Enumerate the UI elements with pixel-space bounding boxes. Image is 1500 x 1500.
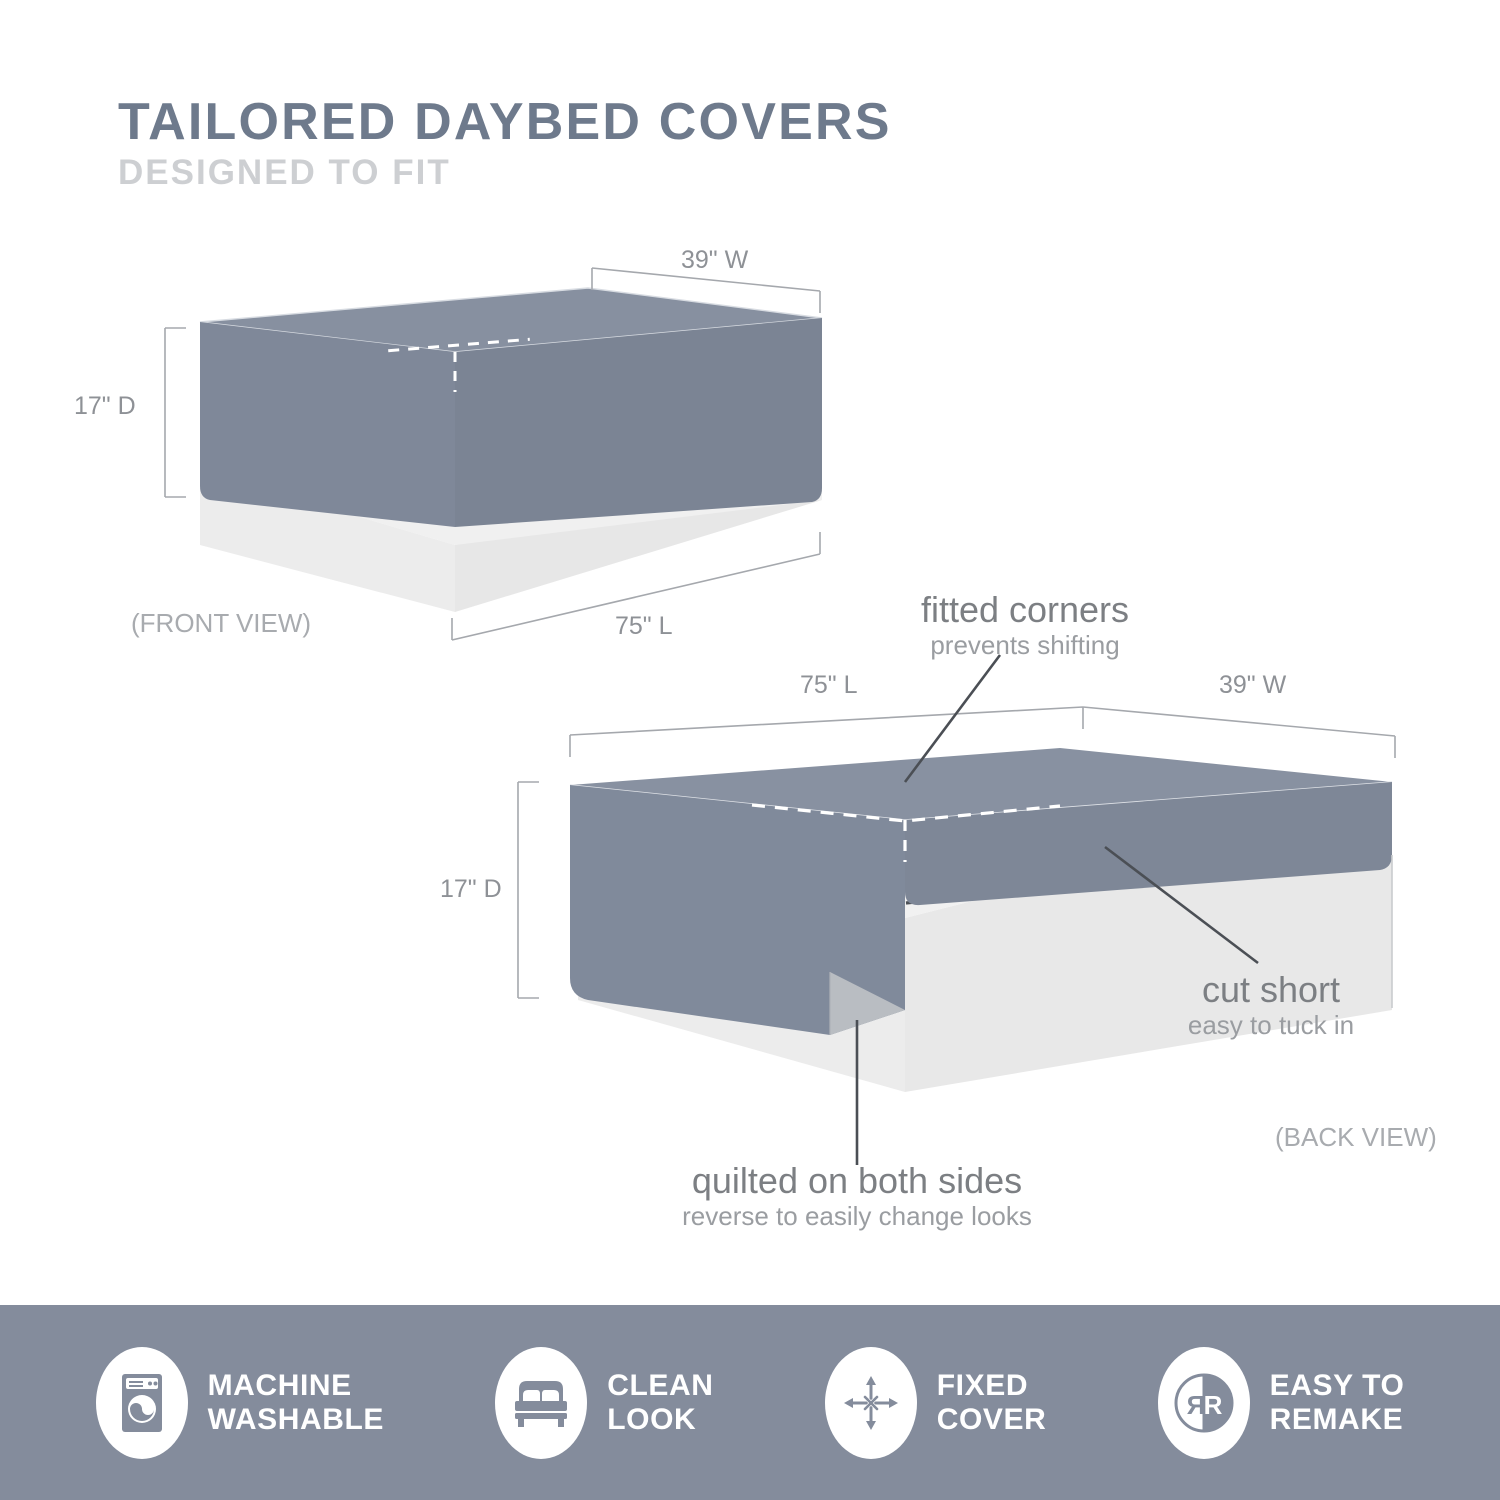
feature-icon-circle — [495, 1347, 587, 1459]
feature-bar: MACHINE WASHABLE CLEAN LOOK — [0, 1305, 1500, 1500]
front-view-depth-label: 17" D — [74, 392, 136, 421]
back-view-width-label: 39" W — [1219, 671, 1286, 700]
bed-icon — [511, 1375, 571, 1431]
back-view-diagram — [518, 655, 1395, 1165]
callout-quilted-subtitle: reverse to easily change looks — [627, 1202, 1087, 1232]
feature-label-easy-to-remake: EASY TO REMAKE — [1270, 1369, 1405, 1436]
callout-cut-short-subtitle: easy to tuck in — [1166, 1011, 1376, 1041]
feature-icon-circle — [96, 1347, 188, 1459]
feature-clean-look: CLEAN LOOK — [495, 1347, 713, 1459]
feature-fixed-cover: FIXED COVER — [825, 1347, 1047, 1459]
svg-text:R: R — [1203, 1390, 1222, 1420]
reversible-r-icon: R R — [1173, 1372, 1235, 1434]
callout-cut-short-title: cut short — [1166, 972, 1376, 1008]
callout-fitted-corners-subtitle: prevents shifting — [900, 631, 1150, 661]
washing-machine-icon — [116, 1372, 168, 1434]
callout-fitted-corners-title: fitted corners — [900, 592, 1150, 628]
infographic-page: TAILORED DAYBED COVERS DESIGNED TO FIT — [0, 0, 1500, 1500]
feature-icon-circle — [825, 1347, 917, 1459]
feature-label-fixed-cover: FIXED COVER — [937, 1369, 1047, 1436]
front-view-length-label: 75" L — [615, 612, 673, 641]
back-view-length-dimension-line — [570, 707, 1083, 757]
svg-text:R: R — [1186, 1390, 1205, 1420]
diagram-stage: 39" W 17" D 75" L (FRONT VIEW) 75" L 39"… — [0, 0, 1500, 1300]
feature-easy-to-remake: R R EASY TO REMAKE — [1158, 1347, 1405, 1459]
feature-label-clean-look: CLEAN LOOK — [607, 1369, 713, 1436]
callout-fitted-corners: fitted corners prevents shifting — [900, 592, 1150, 661]
back-view-label: (BACK VIEW) — [1275, 1122, 1437, 1153]
front-view-width-label: 39" W — [681, 246, 748, 275]
back-view-width-dimension-line — [1083, 707, 1395, 758]
front-view-depth-dimension-line — [165, 328, 186, 497]
back-view-length-label: 75" L — [800, 671, 858, 700]
diagrams-svg — [0, 0, 1500, 1300]
callout-quilted-title: quilted on both sides — [627, 1163, 1087, 1199]
back-view-depth-label: 17" D — [440, 875, 502, 904]
front-view-label: (FRONT VIEW) — [131, 608, 311, 639]
callout-cut-short: cut short easy to tuck in — [1166, 972, 1376, 1041]
front-view-cover-left-face — [200, 322, 455, 527]
feature-machine-washable: MACHINE WASHABLE — [96, 1347, 384, 1459]
back-view-depth-dimension-line — [518, 782, 539, 998]
four-way-arrows-icon — [840, 1372, 902, 1434]
callout-quilted-both-sides: quilted on both sides reverse to easily … — [627, 1163, 1087, 1232]
front-view-cover-right-face — [455, 318, 822, 527]
feature-label-machine-washable: MACHINE WASHABLE — [208, 1369, 384, 1436]
front-view-diagram — [165, 268, 822, 640]
feature-icon-circle: R R — [1158, 1347, 1250, 1459]
